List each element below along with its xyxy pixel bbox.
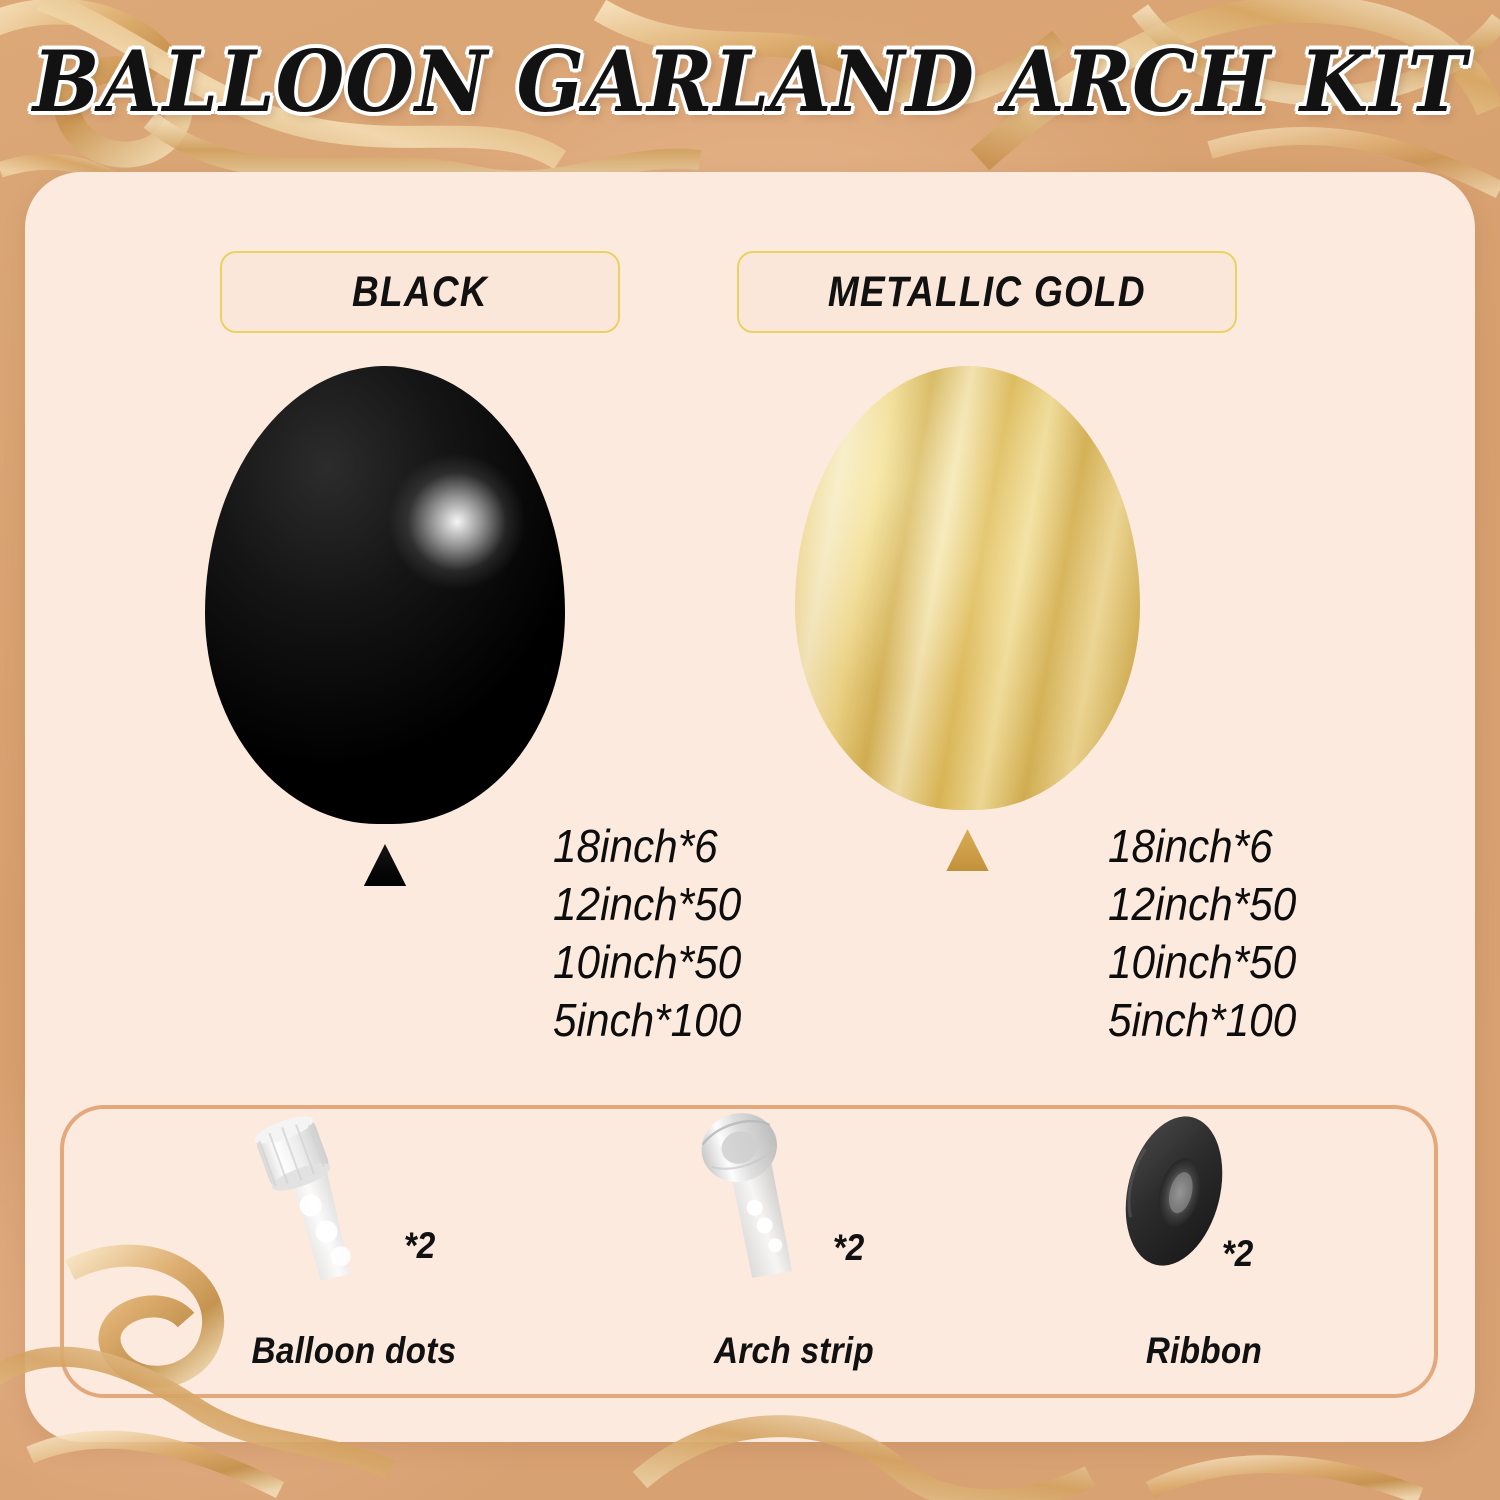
accessory-ribbon: *2 Ribbon bbox=[1024, 1109, 1384, 1394]
accessory-label: Ribbon bbox=[1042, 1330, 1366, 1372]
size-line: 10inch*50 bbox=[1108, 934, 1296, 992]
balloon-black-body bbox=[205, 366, 565, 824]
product-infographic: BALLOON GARLAND ARCH KIT BLACK METALLIC … bbox=[0, 0, 1500, 1500]
balloon-gold-knot bbox=[945, 829, 991, 871]
variant-label-black-text: BLACK bbox=[352, 268, 488, 317]
size-line: 10inch*50 bbox=[553, 934, 741, 992]
variant-label-metallic-gold: METALLIC GOLD bbox=[737, 251, 1237, 333]
ribbon-spool-icon bbox=[1024, 1109, 1384, 1284]
size-line: 5inch*100 bbox=[553, 992, 741, 1050]
size-list-black: 18inch*6 12inch*50 10inch*50 5inch*100 bbox=[553, 818, 741, 1050]
accessory-arch-strip: *2 Arch strip bbox=[594, 1109, 994, 1394]
size-line: 12inch*50 bbox=[553, 876, 741, 934]
accessory-quantity: *2 bbox=[404, 1225, 435, 1267]
balloon-image-black bbox=[205, 366, 565, 886]
accessory-label: Arch strip bbox=[614, 1330, 974, 1372]
balloon-black-knot bbox=[362, 844, 408, 886]
arch-strip-roll-icon bbox=[594, 1109, 994, 1284]
balloon-image-metallic-gold bbox=[795, 366, 1140, 871]
accessory-label: Balloon dots bbox=[165, 1330, 543, 1372]
variant-label-metallic-gold-text: METALLIC GOLD bbox=[828, 268, 1146, 317]
size-line: 5inch*100 bbox=[1108, 992, 1296, 1050]
size-list-metallic-gold: 18inch*6 12inch*50 10inch*50 5inch*100 bbox=[1108, 818, 1296, 1050]
accessory-quantity: *2 bbox=[833, 1227, 864, 1269]
variant-label-black: BLACK bbox=[220, 251, 620, 333]
size-line: 12inch*50 bbox=[1108, 876, 1296, 934]
size-line: 18inch*6 bbox=[1108, 818, 1296, 876]
accessory-balloon-dots: *2 Balloon dots bbox=[144, 1109, 564, 1394]
accessories-box: *2 Balloon dots bbox=[60, 1105, 1438, 1398]
accessory-quantity: *2 bbox=[1222, 1233, 1253, 1275]
balloon-gold-body bbox=[795, 366, 1140, 810]
glue-dots-roll-icon bbox=[144, 1109, 564, 1284]
size-line: 18inch*6 bbox=[553, 818, 741, 876]
header: BALLOON GARLAND ARCH KIT bbox=[0, 22, 1500, 142]
page-title: BALLOON GARLAND ARCH KIT bbox=[33, 40, 1467, 124]
